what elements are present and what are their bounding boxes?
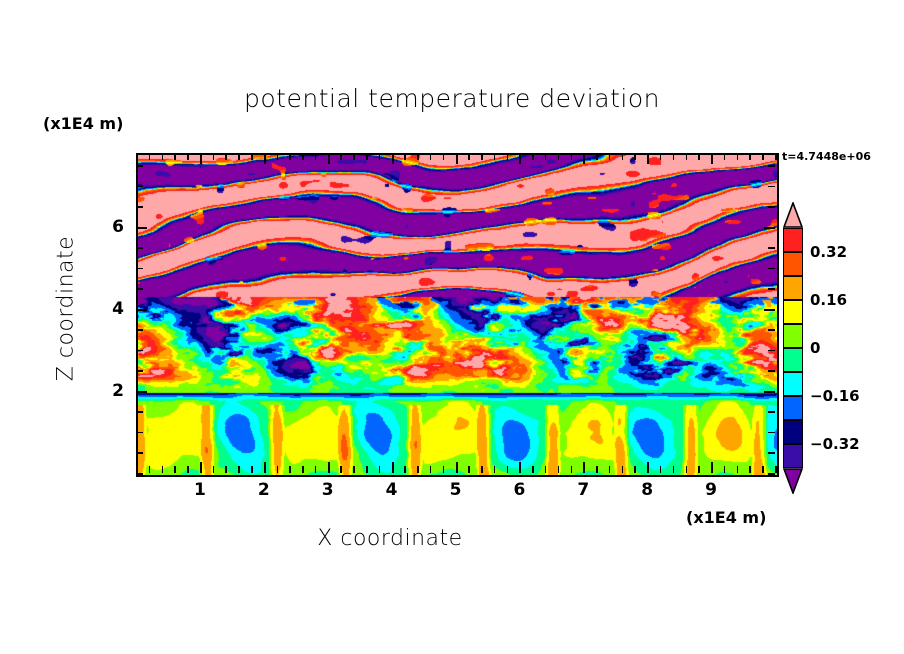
x-tick [558, 466, 560, 473]
x-tick [277, 466, 279, 473]
x-tick-top [289, 153, 291, 160]
z-tick [136, 432, 143, 434]
colorbar-tick-label: 0.16 [810, 291, 847, 309]
x-tick [660, 466, 662, 473]
x-tick-top [417, 153, 419, 160]
x-tick-top [251, 153, 253, 160]
x-tick-top [315, 153, 317, 160]
contour-canvas [138, 155, 777, 475]
x-tick-label: 4 [377, 480, 407, 500]
x-tick [340, 466, 342, 473]
x-tick-top [340, 153, 342, 160]
x-tick-label: 2 [249, 480, 279, 500]
x-tick [366, 466, 368, 473]
x-tick-top [558, 153, 560, 160]
colorbar-band [783, 300, 803, 324]
x-tick [162, 466, 164, 473]
x-tick-top [366, 153, 368, 160]
x-tick-top [136, 153, 138, 160]
x-tick-top [162, 153, 164, 160]
x-tick [238, 466, 240, 473]
x-tick [724, 466, 726, 473]
z-tick-right [764, 227, 775, 229]
x-tick-top [583, 153, 585, 164]
x-tick [149, 466, 151, 473]
x-tick [136, 466, 138, 473]
x-tick-top [762, 153, 764, 160]
x-tick [711, 462, 713, 473]
x-tick [328, 462, 330, 473]
x-tick-label: 6 [504, 480, 534, 500]
x-tick [749, 466, 751, 473]
x-tick-top [775, 153, 777, 160]
z-tick-right [764, 391, 775, 393]
x-tick-top [174, 153, 176, 160]
x-tick [289, 466, 291, 473]
colorbar-band [783, 444, 803, 468]
x-tick [481, 466, 483, 473]
x-tick-top [634, 153, 636, 160]
x-tick [392, 462, 394, 473]
x-tick-top [494, 153, 496, 160]
x-tick-top [468, 153, 470, 160]
x-tick-top [660, 153, 662, 160]
x-tick-top [187, 153, 189, 160]
x-tick [302, 466, 304, 473]
x-tick [404, 466, 406, 473]
z-tick [136, 309, 147, 311]
x-tick-top [749, 153, 751, 160]
x-tick [264, 462, 266, 473]
timestamp-annotation: t=4.7448e+06 [782, 150, 871, 163]
x-tick [596, 466, 598, 473]
x-tick-top [456, 153, 458, 164]
x-tick-top [392, 153, 394, 164]
x-tick-label: 5 [441, 480, 471, 500]
x-tick-top [686, 153, 688, 160]
z-tick-right [768, 329, 775, 331]
x-tick-top [379, 153, 381, 160]
x-tick-top [545, 153, 547, 160]
x-tick [315, 466, 317, 473]
x-tick [353, 466, 355, 473]
x-tick-label: 1 [185, 480, 215, 500]
z-tick-right [768, 165, 775, 167]
colorbar-over-arrow [783, 202, 803, 228]
x-tick [200, 462, 202, 473]
colorbar-tick-label: −0.16 [810, 387, 860, 405]
x-tick-top [430, 153, 432, 160]
z-tick-right [768, 473, 775, 475]
z-tick [136, 473, 143, 475]
colorbar-band [783, 228, 803, 252]
x-tick [251, 466, 253, 473]
z-tick [136, 247, 143, 249]
x-tick-top [609, 153, 611, 160]
colorbar-band [783, 372, 803, 396]
x-tick-top [711, 153, 713, 164]
colorbar-under-arrow [783, 468, 803, 494]
z-tick [136, 186, 143, 188]
x-tick-top [571, 153, 573, 160]
x-tick [379, 466, 381, 473]
z-tick-right [768, 370, 775, 372]
x-tick-top [673, 153, 675, 160]
x-tick-top [264, 153, 266, 164]
x-tick-top [200, 153, 202, 164]
x-tick-top [519, 153, 521, 164]
x-tick [634, 466, 636, 473]
x-tick-top [698, 153, 700, 160]
x-tick-top [404, 153, 406, 160]
x-tick [762, 466, 764, 473]
x-tick [519, 462, 521, 473]
y-axis-title: Z coordinate [54, 179, 79, 439]
z-tick [136, 329, 143, 331]
x-tick [673, 466, 675, 473]
x-axis-unit-label: (x1E4 m) [686, 508, 766, 527]
x-tick-label: 3 [313, 480, 343, 500]
x-tick [507, 466, 509, 473]
x-tick [622, 466, 624, 473]
x-tick [583, 462, 585, 473]
x-tick [225, 466, 227, 473]
figure-root: potential temperature deviation (x1E4 m)… [0, 0, 904, 654]
z-tick-label: 4 [94, 299, 124, 319]
x-tick [532, 466, 534, 473]
x-tick [494, 466, 496, 473]
x-tick-top [622, 153, 624, 160]
colorbar-tick-label: −0.32 [810, 435, 860, 453]
x-tick-top [328, 153, 330, 164]
x-tick [456, 462, 458, 473]
z-tick-right [768, 350, 775, 352]
z-tick-right [768, 206, 775, 208]
colorbar-band [783, 348, 803, 372]
x-tick [468, 466, 470, 473]
x-tick-label: 8 [632, 480, 662, 500]
z-tick [136, 165, 143, 167]
y-axis-unit-label: (x1E4 m) [43, 114, 123, 133]
colorbar-tick-label: 0.32 [810, 243, 847, 261]
z-tick-label: 2 [94, 381, 124, 401]
x-tick [545, 466, 547, 473]
z-tick [136, 206, 143, 208]
x-tick [737, 466, 739, 473]
colorbar-band [783, 276, 803, 300]
z-tick [136, 288, 143, 290]
x-tick-top [647, 153, 649, 164]
x-tick-top [737, 153, 739, 160]
x-tick-label: 9 [696, 480, 726, 500]
x-tick [187, 466, 189, 473]
z-tick-right [768, 186, 775, 188]
x-tick-top [277, 153, 279, 160]
x-tick [647, 462, 649, 473]
x-tick-top [443, 153, 445, 160]
x-tick-top [149, 153, 151, 160]
z-tick-right [764, 309, 775, 311]
x-tick-label: 7 [568, 480, 598, 500]
x-tick-top [596, 153, 598, 160]
x-tick [417, 466, 419, 473]
x-tick [443, 466, 445, 473]
x-tick-top [724, 153, 726, 160]
colorbar-band [783, 324, 803, 348]
z-tick-right [768, 247, 775, 249]
x-tick [430, 466, 432, 473]
z-tick-right [768, 288, 775, 290]
z-tick-right [768, 411, 775, 413]
x-tick [213, 466, 215, 473]
x-tick-top [507, 153, 509, 160]
x-tick-top [353, 153, 355, 160]
z-tick [136, 227, 147, 229]
x-tick-top [225, 153, 227, 160]
x-tick [686, 466, 688, 473]
x-tick [609, 466, 611, 473]
page-title: potential temperature deviation [0, 84, 904, 113]
x-tick-top [481, 153, 483, 160]
z-tick-label: 6 [94, 217, 124, 237]
colorbar-band [783, 420, 803, 444]
x-tick [698, 466, 700, 473]
z-tick-right [768, 432, 775, 434]
x-axis-title: X coordinate [0, 526, 780, 551]
colorbar-tick-label: 0 [810, 339, 820, 357]
x-tick [174, 466, 176, 473]
x-tick-top [238, 153, 240, 160]
z-tick [136, 452, 143, 454]
colorbar-band [783, 252, 803, 276]
x-tick-top [532, 153, 534, 160]
z-tick [136, 370, 143, 372]
z-tick [136, 268, 143, 270]
colorbar [783, 202, 803, 494]
z-tick [136, 391, 147, 393]
z-tick [136, 411, 143, 413]
x-tick-top [302, 153, 304, 160]
contour-plot-area [136, 153, 779, 477]
z-tick-right [768, 452, 775, 454]
x-tick [775, 466, 777, 473]
z-tick [136, 350, 143, 352]
x-tick [571, 466, 573, 473]
colorbar-band [783, 396, 803, 420]
z-tick-right [768, 268, 775, 270]
x-tick-top [213, 153, 215, 160]
